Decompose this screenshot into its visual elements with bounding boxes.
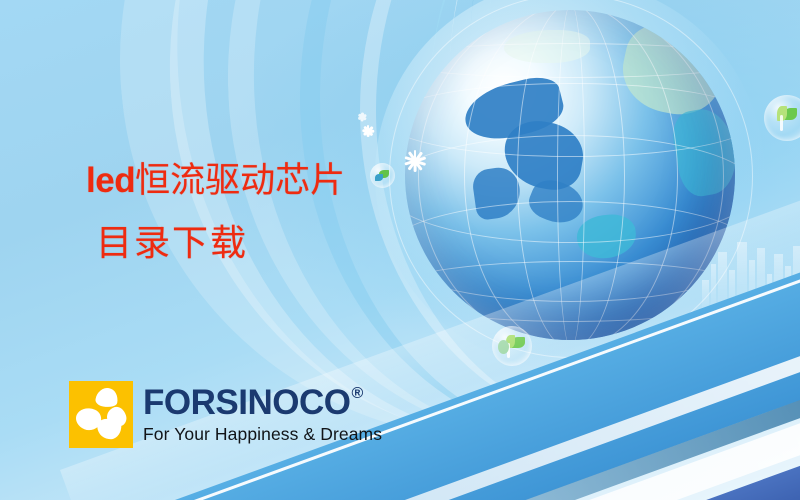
headline-line-2: 目录下载 (0, 225, 420, 263)
petal-top (95, 386, 120, 409)
headline-latin-text: led (86, 161, 135, 200)
brand-name-text: FORSINOCO (143, 385, 350, 420)
headline-line-1: led恒流驱动芯片 (0, 162, 420, 200)
brand-logo[interactable]: FORSINOCO ® For Your Happiness & Dreams (69, 381, 382, 448)
brand-tagline: For Your Happiness & Dreams (143, 426, 382, 444)
headline-cjk-text: 恒流驱动芯片 (135, 161, 345, 201)
registered-trademark-icon: ® (351, 386, 362, 402)
headline-block: led恒流驱动芯片 目录下载 (0, 162, 420, 263)
brand-wordmark: FORSINOCO ® (143, 385, 382, 420)
promo-banner: led恒流驱动芯片 目录下载 FORSINOCO ® For Your Happ… (0, 0, 800, 500)
logo-text-block: FORSINOCO ® For Your Happiness & Dreams (143, 385, 382, 444)
four-petal-flower-mark-icon (69, 381, 133, 448)
